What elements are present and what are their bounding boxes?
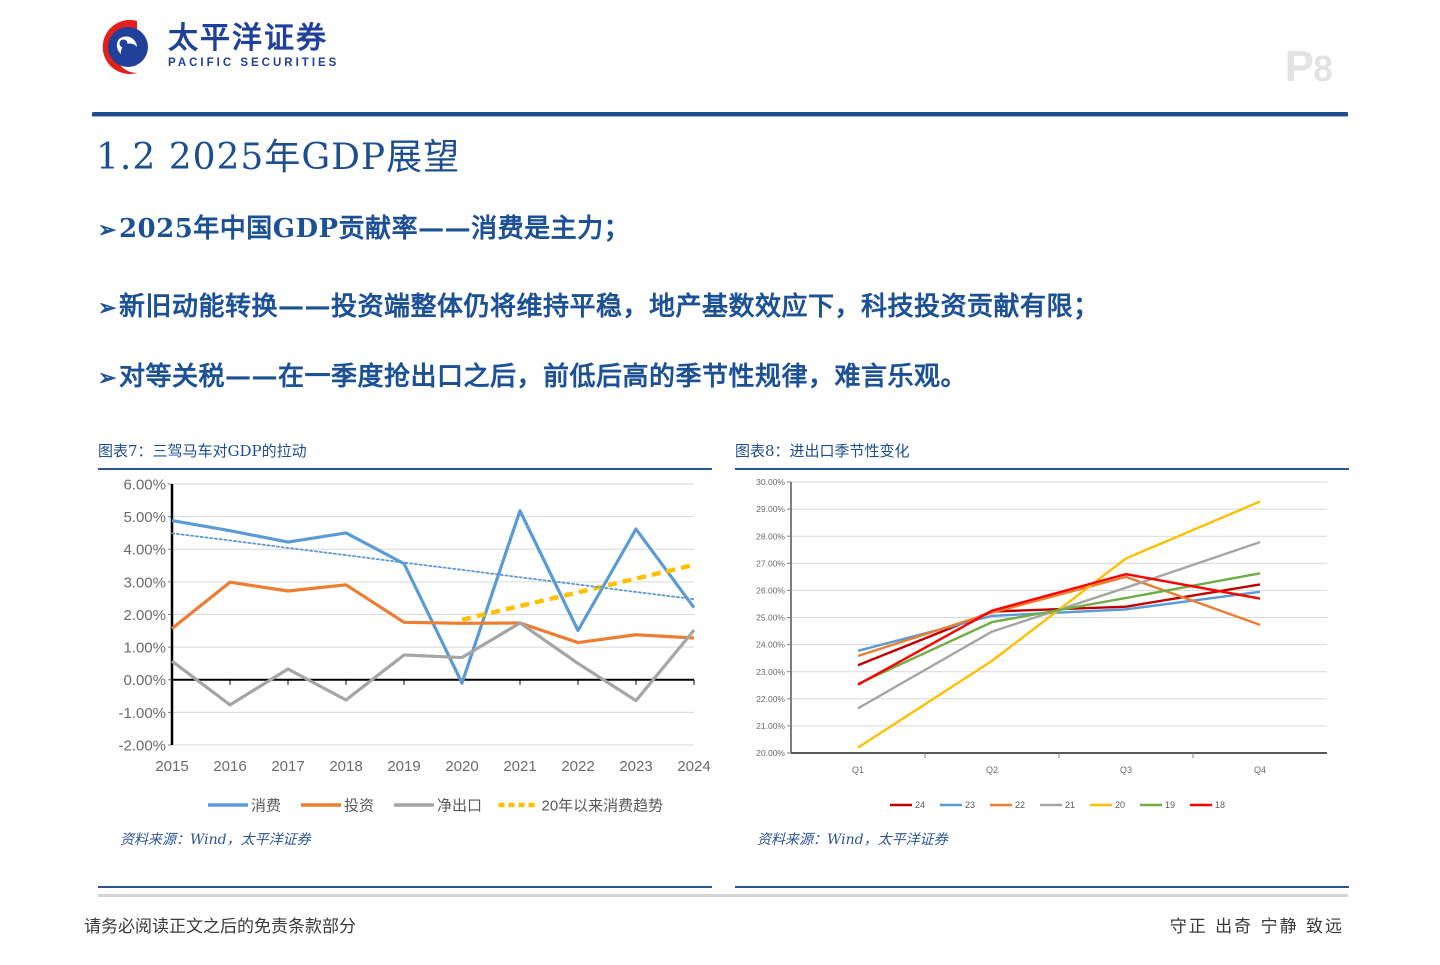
svg-text:4.00%: 4.00% (123, 542, 166, 559)
svg-text:19: 19 (1165, 800, 1175, 810)
svg-text:28.00%: 28.00% (756, 531, 785, 541)
bullet-arrow-icon: ➢ (98, 217, 117, 243)
company-logo: 太平洋证券 PACIFIC SECURITIES (92, 14, 339, 80)
svg-text:23.00%: 23.00% (756, 667, 785, 677)
bullet-item-1: ➢2025年中国GDP贡献率——消费是主力； (98, 208, 630, 245)
page-number-value: 8 (1313, 48, 1332, 89)
figure-left-chart: 6.00%5.00%4.00%3.00%2.00%1.00%0.00%-1.00… (98, 470, 712, 825)
svg-text:投资: 投资 (344, 797, 374, 814)
svg-text:2018: 2018 (329, 758, 362, 775)
svg-text:24.00%: 24.00% (756, 640, 785, 650)
svg-text:2017: 2017 (271, 758, 304, 775)
bullet-text-3: 对等关税——在一季度抢出口之后，前低后高的季节性规律，难言乐观。 (119, 362, 967, 392)
svg-text:2015: 2015 (155, 758, 188, 775)
bullet-arrow-icon: ➢ (98, 295, 117, 321)
bullet-text-2: 新旧动能转换——投资端整体仍将维持平稳，地产基数效应下，科技投资贡献有限； (119, 292, 1100, 322)
figure-right-bottom-rule (735, 886, 1349, 888)
svg-text:2021: 2021 (503, 758, 536, 775)
svg-text:22: 22 (1015, 800, 1025, 810)
svg-text:30.00%: 30.00% (756, 477, 785, 487)
svg-text:21.00%: 21.00% (756, 721, 785, 731)
figure-left-title: 图表7：三驾马车对GDP的拉动 (98, 440, 712, 461)
svg-text:20年以来消费趋势: 20年以来消费趋势 (542, 797, 664, 814)
svg-text:24: 24 (915, 800, 925, 810)
svg-text:6.00%: 6.00% (123, 476, 166, 493)
logo-text-cn: 太平洋证券 (168, 24, 339, 54)
figure-left-bottom-rule (98, 886, 712, 888)
bullet-item-2: ➢新旧动能转换——投资端整体仍将维持平稳，地产基数效应下，科技投资贡献有限； (98, 286, 1099, 323)
bullet-item-3: ➢对等关税——在一季度抢出口之后，前低后高的季节性规律，难言乐观。 (98, 356, 967, 393)
figure-left-source: 资料来源：Wind，太平洋证券 (98, 825, 712, 849)
logo-mark-icon (92, 14, 158, 80)
svg-text:18: 18 (1215, 800, 1225, 810)
svg-text:Q1: Q1 (852, 765, 864, 775)
svg-text:27.00%: 27.00% (756, 558, 785, 568)
svg-text:26.00%: 26.00% (756, 585, 785, 595)
svg-text:29.00%: 29.00% (756, 504, 785, 514)
figure-right-chart: 30.00%29.00%28.00%27.00%26.00%25.00%24.0… (735, 470, 1349, 825)
svg-text:20.00%: 20.00% (756, 748, 785, 758)
svg-text:Q4: Q4 (1254, 765, 1266, 775)
svg-text:3.00%: 3.00% (123, 574, 166, 591)
bullet-arrow-icon: ➢ (98, 365, 117, 391)
page-title: 1.2 2025年GDP展望 (96, 128, 460, 180)
header-divider (92, 112, 1348, 117)
svg-text:2022: 2022 (561, 758, 594, 775)
page-number-prefix: P (1285, 42, 1313, 91)
page-number: P8 (1285, 42, 1332, 92)
svg-text:净出口: 净出口 (437, 797, 482, 814)
footer-divider (98, 894, 1348, 897)
svg-text:22.00%: 22.00% (756, 694, 785, 704)
svg-text:Q3: Q3 (1120, 765, 1132, 775)
svg-text:-2.00%: -2.00% (118, 737, 166, 754)
figure-right-title: 图表8：进出口季节性变化 (735, 440, 1349, 461)
figure-right-source: 资料来源：Wind，太平洋证券 (735, 825, 1349, 849)
figure-panel-left: 图表7：三驾马车对GDP的拉动 6.00%5.00%4.00%3.00%2.00… (98, 440, 712, 849)
footer-disclaimer: 请务必阅读正文之后的免责条款部分 (84, 912, 356, 937)
svg-text:23: 23 (965, 800, 975, 810)
svg-text:2024: 2024 (677, 758, 710, 775)
svg-text:2019: 2019 (387, 758, 420, 775)
svg-text:1.00%: 1.00% (123, 640, 166, 657)
logo-text-en: PACIFIC SECURITIES (168, 58, 339, 70)
svg-text:消费: 消费 (251, 797, 281, 814)
svg-text:2016: 2016 (213, 758, 246, 775)
svg-text:25.00%: 25.00% (756, 613, 785, 623)
svg-text:20: 20 (1115, 800, 1125, 810)
svg-text:21: 21 (1065, 800, 1075, 810)
bullet-text-1: 2025年中国GDP贡献率——消费是主力； (119, 214, 630, 244)
chart-fig8-svg: 30.00%29.00%28.00%27.00%26.00%25.00%24.0… (735, 470, 1349, 825)
svg-text:2.00%: 2.00% (123, 607, 166, 624)
svg-text:5.00%: 5.00% (123, 509, 166, 526)
svg-text:-1.00%: -1.00% (118, 705, 166, 722)
svg-text:0.00%: 0.00% (123, 672, 166, 689)
footer-slogan: 守正 出奇 宁静 致远 (1170, 912, 1344, 937)
chart-fig7-svg: 6.00%5.00%4.00%3.00%2.00%1.00%0.00%-1.00… (98, 470, 712, 825)
figure-panel-right: 图表8：进出口季节性变化 30.00%29.00%28.00%27.00%26.… (735, 440, 1349, 849)
svg-text:Q2: Q2 (986, 765, 998, 775)
svg-text:2020: 2020 (445, 758, 478, 775)
svg-text:2023: 2023 (619, 758, 652, 775)
